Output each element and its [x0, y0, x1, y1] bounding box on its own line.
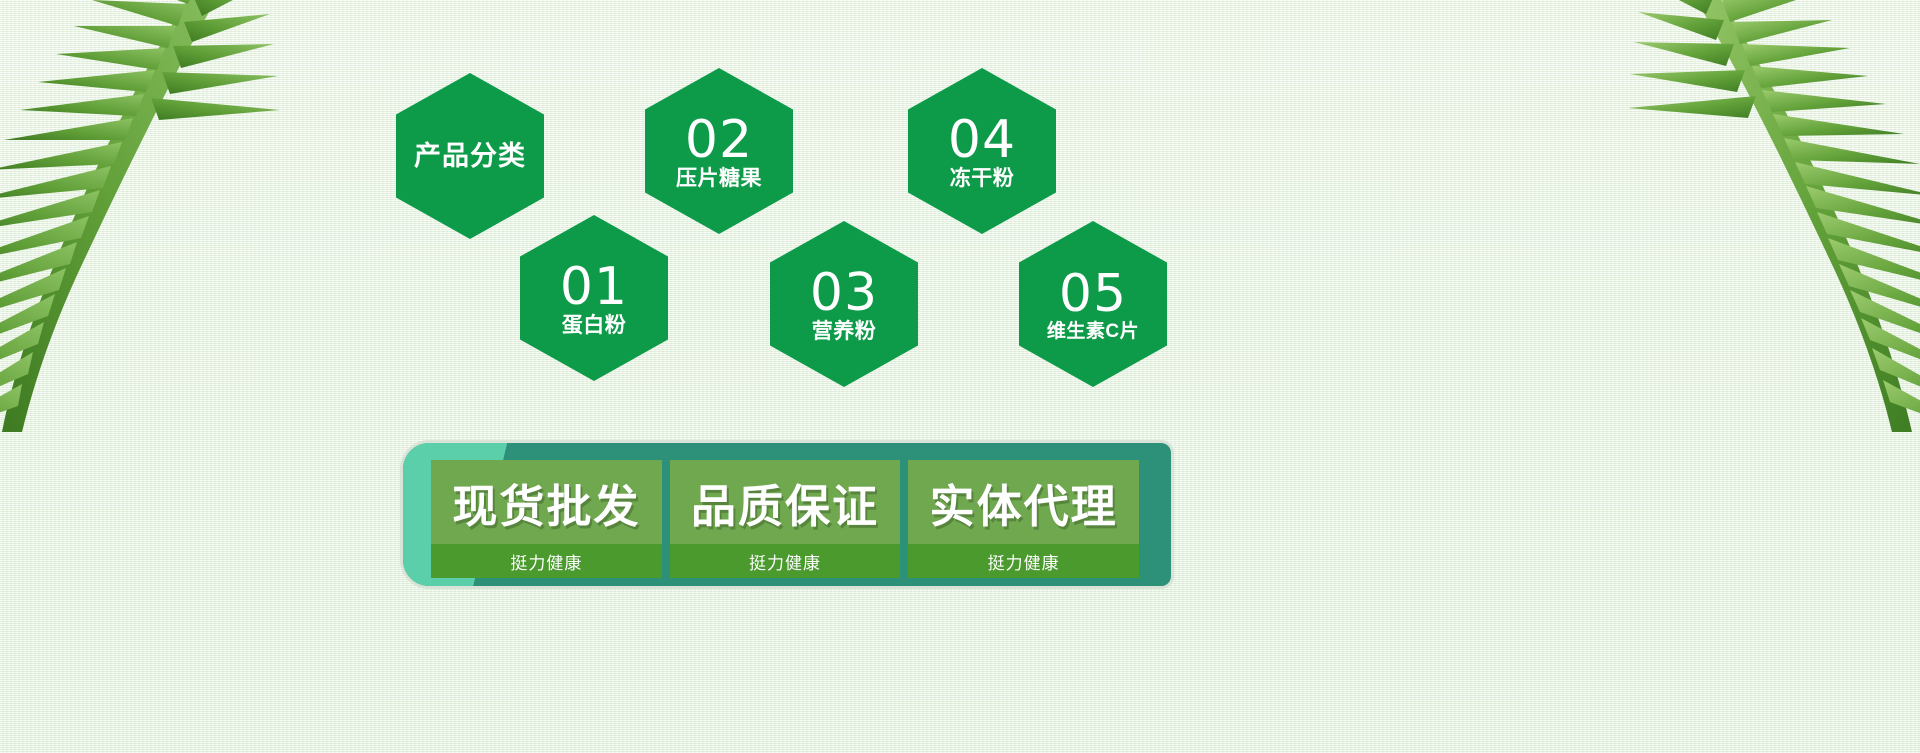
banner-cell-title: 现货批发	[431, 460, 662, 544]
banner-cell-list: 现货批发 挺力健康 品质保证 挺力健康 实体代理 挺力健康	[431, 460, 1139, 578]
hexagon-caption-05: 维生素C片	[1047, 322, 1139, 341]
banner-cell-title: 实体代理	[908, 460, 1139, 544]
banner-cell-quality[interactable]: 品质保证 挺力健康	[670, 460, 901, 578]
hexagon-product-category-title[interactable]: 产品分类	[396, 73, 544, 239]
banner-canvas: 产品分类 01 蛋白粉 02 压片糖果 03 营养粉 04 冻干粉 05 维生素…	[0, 0, 1920, 753]
hexagon-category-02[interactable]: 02 压片糖果	[645, 68, 793, 234]
banner-cell-subtitle: 挺力健康	[670, 544, 901, 578]
hexagon-caption-03: 营养粉	[812, 321, 877, 342]
hexagon-title-caption: 产品分类	[414, 143, 526, 170]
banner-cell-subtitle: 挺力健康	[431, 544, 662, 578]
banner-cell-wholesale[interactable]: 现货批发 挺力健康	[431, 460, 662, 578]
banner-cell-title: 品质保证	[670, 460, 901, 544]
banner-cell-agency[interactable]: 实体代理 挺力健康	[908, 460, 1139, 578]
hexagon-number-05: 05	[1059, 268, 1127, 320]
hexagon-number-01: 01	[560, 261, 628, 313]
banner-corner-notch	[1135, 443, 1171, 586]
palm-leaf-left-icon	[0, 0, 290, 440]
hexagon-caption-02: 压片糖果	[676, 168, 762, 189]
hexagon-number-02: 02	[685, 114, 753, 166]
banner-shell: 现货批发 挺力健康 品质保证 挺力健康 实体代理 挺力健康	[403, 443, 1171, 586]
hexagon-category-03[interactable]: 03 营养粉	[770, 221, 918, 387]
hexagon-category-01[interactable]: 01 蛋白粉	[520, 215, 668, 381]
banner-cell-subtitle: 挺力健康	[908, 544, 1139, 578]
palm-leaf-right-icon	[1600, 0, 1920, 440]
feature-banner: 现货批发 挺力健康 品质保证 挺力健康 实体代理 挺力健康	[403, 443, 1171, 586]
hexagon-category-05[interactable]: 05 维生素C片	[1019, 221, 1167, 387]
hexagon-caption-04: 冻干粉	[950, 168, 1015, 189]
hexagon-number-04: 04	[948, 114, 1016, 166]
hexagon-caption-01: 蛋白粉	[562, 315, 627, 336]
hexagon-category-04[interactable]: 04 冻干粉	[908, 68, 1056, 234]
hexagon-number-03: 03	[810, 267, 878, 319]
